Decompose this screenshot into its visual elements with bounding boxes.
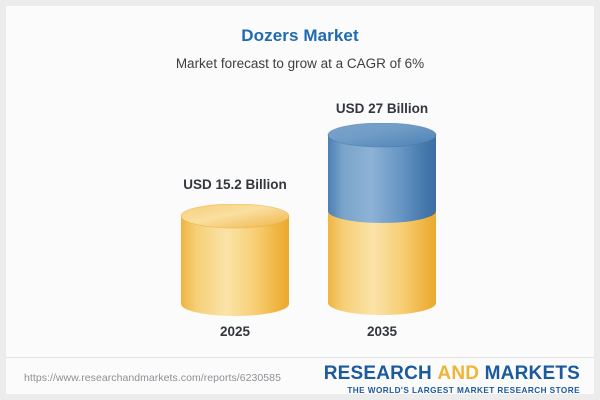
logo-tagline: THE WORLD'S LARGEST MARKET RESEARCH STOR…	[324, 385, 580, 394]
bar-category-label-2035: 2035	[282, 324, 482, 339]
report-url[interactable]: https://www.researchandmarkets.com/repor…	[24, 372, 281, 384]
chart-card: Dozers Market Market forecast to grow at…	[6, 6, 594, 394]
logo-word-research: RESEARCH	[324, 363, 432, 384]
screenshot-canvas: Dozers Market Market forecast to grow at…	[0, 0, 600, 400]
logo-word-markets: MARKETS	[485, 363, 580, 384]
logo-wordmark: RESEARCH AND MARKETS	[324, 364, 580, 384]
footer-divider	[6, 357, 594, 358]
bar-value-label-2035: USD 27 Billion	[282, 101, 482, 116]
research-and-markets-logo[interactable]: RESEARCH AND MARKETS THE WORLD'S LARGEST…	[324, 364, 580, 394]
bar-value-label-2025: USD 15.2 Billion	[135, 177, 335, 192]
logo-word-and-text: AND	[437, 363, 479, 384]
chart-plot-area: USD 15.2 Billion	[6, 6, 594, 394]
cylinder-bar-2035[interactable]	[322, 123, 442, 323]
cylinder-bar-2025[interactable]	[175, 204, 295, 324]
